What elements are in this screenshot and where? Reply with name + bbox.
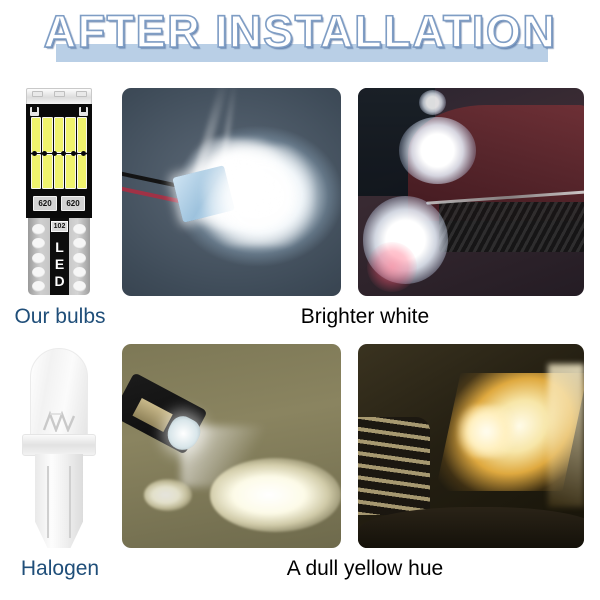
page-title: AFTER INSTALLATION [0,6,600,58]
led-contact-pads-left [31,224,46,292]
page-header: AFTER INSTALLATION [0,0,600,78]
caption-dull-yellow: A dull yellow hue [210,557,520,581]
label-our-bulbs: Our bulbs [12,305,108,329]
label-halogen: Halogen [10,557,110,581]
led-bulb-wedge-base: 102 LED [28,218,90,295]
led-resistor-620-left: 620 [33,196,57,211]
led-contact-pads-right [72,224,87,292]
headlight-white [399,117,476,184]
car-chrome-grille [358,417,430,515]
lens-flare-small [419,90,446,115]
photo-car-yellow-headlight [358,344,584,548]
led-bulb-pcb: 620 620 [26,104,92,218]
car-hood [358,507,584,548]
car-grille [439,202,584,252]
halogen-light-pool [210,458,341,531]
halogen-collar [22,434,96,456]
headlight-yellow-edge [548,364,584,507]
photo-car-white-headlights [358,88,584,296]
led-light-spill [201,146,315,246]
headlight-yellow-core [457,405,516,458]
lens-flare-pink [367,242,417,292]
led-solder-dots [32,151,86,156]
led-bulb-top-cap [26,88,92,105]
led-brand-text: LED [52,236,67,292]
halogen-filament [41,410,77,432]
led-bulb-graphic: 620 620 102 LED [20,88,98,295]
caption-brighter-white: Brighter white [220,305,510,329]
led-resistor-620-right: 620 [61,196,85,211]
halogen-bulb-graphic [22,348,96,548]
halogen-wedge-base [35,454,83,548]
halogen-light-spot [144,479,192,512]
photo-halogen-glow-closeup [122,344,341,548]
led-resistor-102: 102 [51,221,68,232]
photo-led-glow-closeup [122,88,341,296]
